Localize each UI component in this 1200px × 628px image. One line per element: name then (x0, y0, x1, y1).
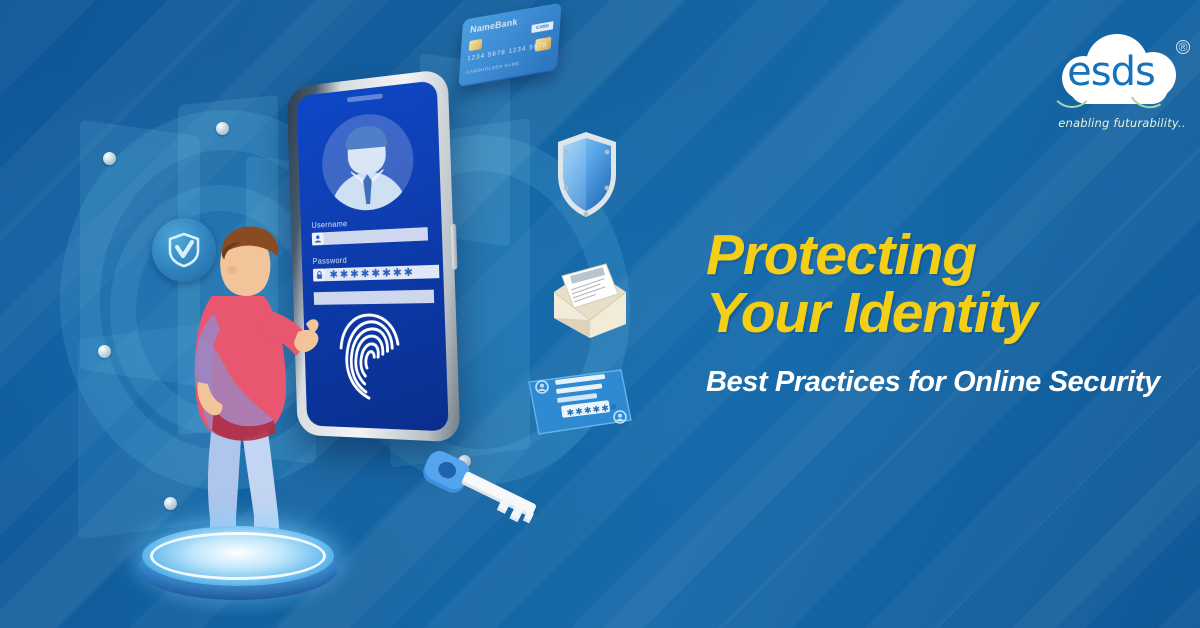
login-form-card: ✱✱✱✱✱✱ (525, 368, 635, 446)
logo-tagline: enabling futurability.. (1052, 116, 1192, 130)
password-field[interactable]: ✱✱✱✱✱✱✱✱ (313, 265, 440, 282)
username-input[interactable] (324, 227, 429, 245)
key-icon (415, 448, 555, 538)
logo-wordmark: esds (1052, 30, 1170, 108)
shield-icon (550, 128, 624, 222)
page-title-line1: Protecting (706, 223, 976, 287)
card-holder-name: CARDHOLDER NAME (466, 60, 520, 75)
login-button[interactable] (314, 290, 435, 305)
decor-rivet (103, 152, 116, 165)
fingerprint-icon[interactable] (323, 305, 414, 407)
credit-card: NameBank CARD 1234 5678 1234 5678 CARDHO… (458, 2, 561, 87)
page-title-line2: Your Identity (706, 284, 1166, 342)
decor-rivet (98, 345, 111, 358)
registered-trademark-icon: ® (1176, 40, 1190, 54)
password-masked-value: ✱✱✱✱✱✱✱✱ (325, 267, 415, 281)
page-subtitle-line1: Best Practices for Online (706, 366, 1041, 398)
emv-chip-icon (469, 39, 483, 52)
esds-logo[interactable]: esds ® enabling futurability.. (1052, 30, 1192, 135)
text-block: Protecting Your Identity Best Practices … (706, 226, 1166, 402)
security-shield (550, 128, 624, 222)
card-network-logo: CARD (531, 21, 553, 33)
security-key (415, 448, 555, 538)
login-form-icon: ✱✱✱✱✱✱ (525, 368, 635, 446)
card-bank-name: NameBank (470, 16, 518, 35)
page-subtitle-line2: Security (1049, 366, 1160, 398)
decor-rivet (216, 122, 229, 135)
phone-speaker-notch (347, 93, 383, 102)
avatar (321, 110, 415, 213)
page-title: Protecting Your Identity (706, 226, 1166, 342)
banner-canvas: Username Password ✱✱✱✱✱✱✱✱ (0, 0, 1200, 628)
envelope-icon (548, 250, 632, 338)
platform-ring-light (150, 532, 326, 580)
illustration-scene: Username Password ✱✱✱✱✱✱✱✱ (60, 0, 680, 628)
page-subtitle: Best Practices for Online Security (706, 364, 1166, 402)
glowing-platform (138, 520, 338, 610)
email-envelope (548, 250, 632, 338)
password-input[interactable]: ✱✱✱✱✱✱✱✱ (325, 265, 440, 281)
username-field[interactable] (312, 227, 428, 245)
